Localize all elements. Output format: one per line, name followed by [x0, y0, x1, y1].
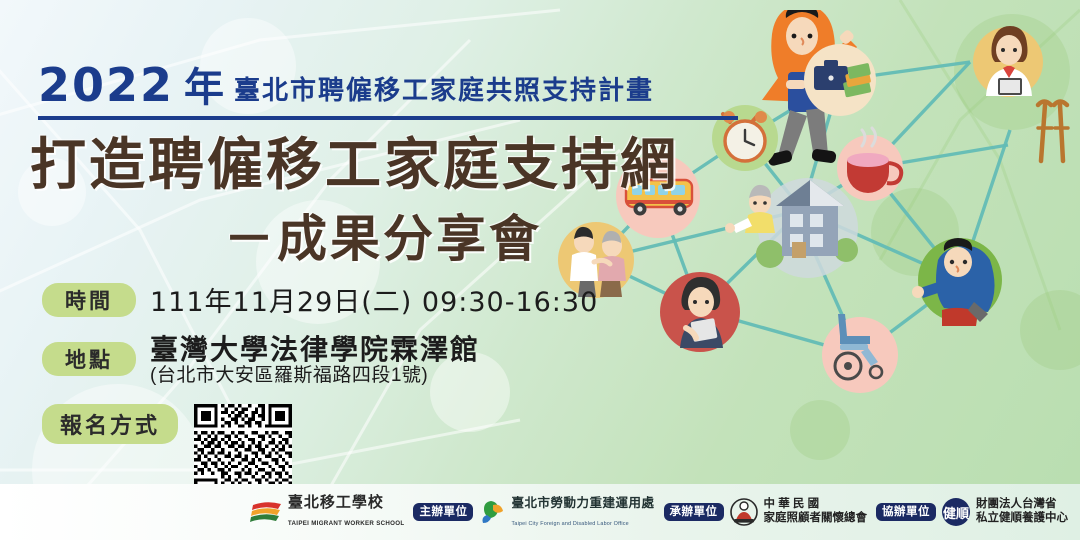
school-name-cn: 臺北移工學校 [288, 494, 384, 511]
registration-label-badge: 報名方式 [42, 404, 178, 444]
labor-office-name-cn: 臺北市勞動力重建運用處 [511, 496, 654, 510]
time-value: 111年11月29日(二) 09:30-16:30 [150, 280, 598, 319]
sponsor-organizer: 主辦單位 臺北市勞動力重建運用處 Taipei City Foreign and… [413, 494, 654, 530]
project-name: 臺北市聘僱移工家庭共照支持計畫 [234, 77, 654, 103]
worker-tablet-node [660, 272, 740, 352]
place-address: (台北市大安區羅斯福路四段1號) [150, 365, 428, 386]
hijab-worker-node [912, 238, 1002, 326]
coorganizer-name-line1: 財團法人台灣省 [976, 498, 1057, 510]
labor-office-name-en: Taipei City Foreign and Disabled Labor O… [511, 521, 628, 527]
executor-name-line2: 家庭照顧者關懷總會 [764, 512, 868, 524]
organizer-tag: 主辦單位 [413, 503, 473, 522]
page-subtitle: －成果分享會 [224, 212, 542, 267]
nurse-node [973, 26, 1043, 97]
time-label-badge: 時間 [42, 283, 136, 317]
year-suffix: 年 [184, 68, 224, 108]
executor-tag: 承辦單位 [664, 503, 724, 522]
briefcase-money-node [804, 44, 876, 116]
year-number: 2022 [38, 62, 174, 108]
page-title: 打造聘僱移工家庭支持網 [30, 134, 679, 196]
school-name-en: TAIPEI MIGRANT WORKER SCHOOL [288, 520, 405, 527]
crutches-icon [1038, 102, 1068, 162]
year-heading-row: 2022 年 臺北市聘僱移工家庭共照支持計畫 [38, 62, 654, 108]
event-place-row: 地點 臺灣大學法律學院霖澤館 (台北市大安區羅斯福路四段1號) [42, 334, 480, 388]
place-label-badge: 地點 [42, 342, 136, 376]
executor-name-line1: 中 華 民 國 [764, 498, 820, 510]
school-mark-icon [250, 501, 284, 523]
labor-office-logo-icon [479, 499, 505, 525]
wheelchair-node [822, 314, 898, 393]
sponsor-coorganizer: 協辦單位 健順 財團法人台灣省 私立健順養護中心 [876, 498, 1068, 526]
taipei-migrant-worker-school-logo: 臺北移工學校 TAIPEI MIGRANT WORKER SCHOOL [250, 494, 405, 529]
poster-canvas: 2022 年 臺北市聘僱移工家庭共照支持計畫 打造聘僱移工家庭支持網 －成果分享… [0, 0, 1080, 540]
coorganizer-tag: 協辦單位 [876, 503, 936, 522]
jianshun-logo-icon: 健順 [942, 498, 970, 526]
place-value: 臺灣大學法律學院霖澤館 [150, 334, 480, 365]
coorganizer-name-line2: 私立健順養護中心 [976, 512, 1068, 524]
sponsor-executor: 承辦單位 中 華 民 國 家庭照顧者關懷總會 [664, 498, 868, 526]
house-node [725, 178, 858, 278]
coffee-cup-node [837, 128, 903, 201]
family-caregiver-logo-icon [730, 498, 758, 526]
event-time-row: 時間 111年11月29日(二) 09:30-16:30 [42, 280, 598, 319]
heading-underline [38, 116, 738, 120]
alarm-clock-node [712, 105, 778, 171]
sponsor-footer-bar: 臺北移工學校 TAIPEI MIGRANT WORKER SCHOOL 主辦單位… [0, 484, 1080, 540]
